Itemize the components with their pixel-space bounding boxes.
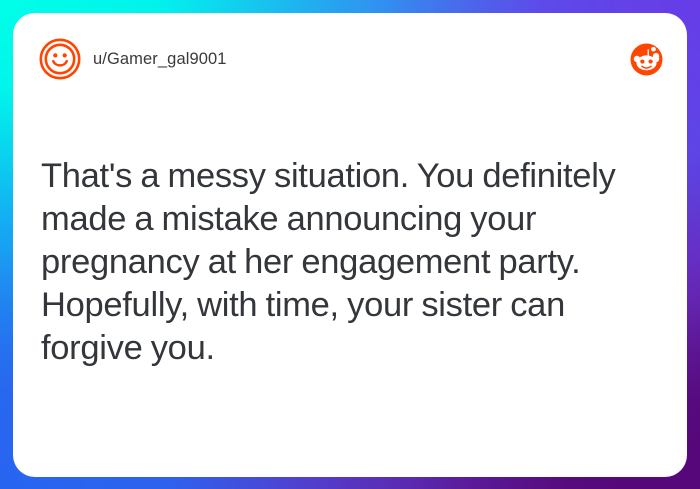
smiley-face-avatar-icon [39, 38, 81, 80]
avatar[interactable] [39, 38, 81, 80]
card-header: u/Gamer_gal9001 [13, 13, 687, 105]
author-username: u/Gamer_gal9001 [93, 50, 227, 69]
reddit-post-card: u/Gamer_gal9001 [13, 13, 687, 477]
screenshot-canvas: u/Gamer_gal9001 [0, 0, 700, 489]
post-text: That's a messy situation. You definitely… [41, 155, 659, 370]
author-block[interactable]: u/Gamer_gal9001 [39, 38, 630, 80]
card-body: That's a messy situation. You definitely… [13, 105, 687, 477]
reddit-snoo-icon [630, 43, 663, 76]
brand-logo-button[interactable] [630, 43, 663, 76]
